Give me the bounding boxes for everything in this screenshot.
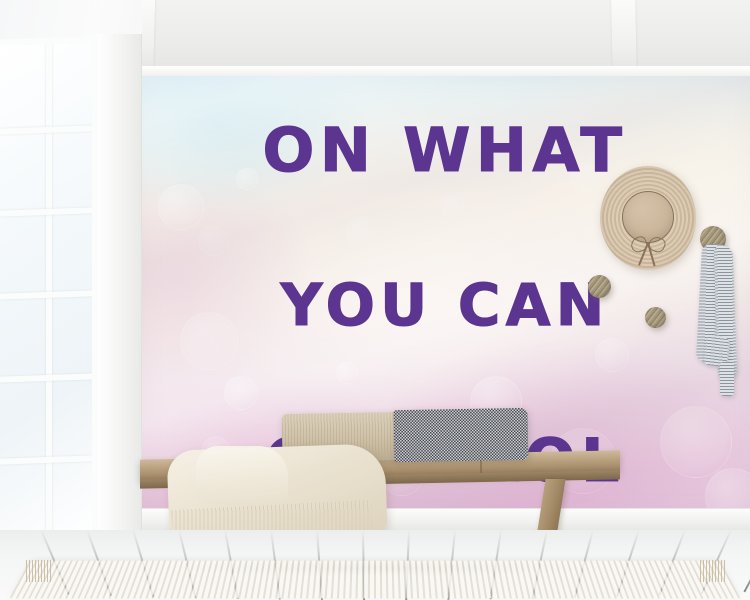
striped-scarf bbox=[699, 244, 733, 394]
throw-blanket-fold bbox=[196, 446, 288, 504]
window-wall bbox=[0, 0, 142, 600]
dark-lumbar-pillow bbox=[394, 408, 529, 462]
wooden-knob bbox=[588, 275, 611, 298]
straw-hat bbox=[600, 166, 696, 270]
striped-rug bbox=[9, 561, 740, 599]
rug-fringe bbox=[700, 560, 726, 582]
wooden-knob bbox=[645, 307, 666, 328]
room-scene: ON WHAT YOU CAN CONTROL bbox=[0, 0, 750, 600]
window-reveal bbox=[96, 34, 142, 554]
window-frame bbox=[0, 36, 98, 548]
rug-fringe bbox=[26, 560, 52, 582]
floor-plank-seam bbox=[743, 530, 750, 592]
scarf-tail bbox=[720, 362, 734, 396]
